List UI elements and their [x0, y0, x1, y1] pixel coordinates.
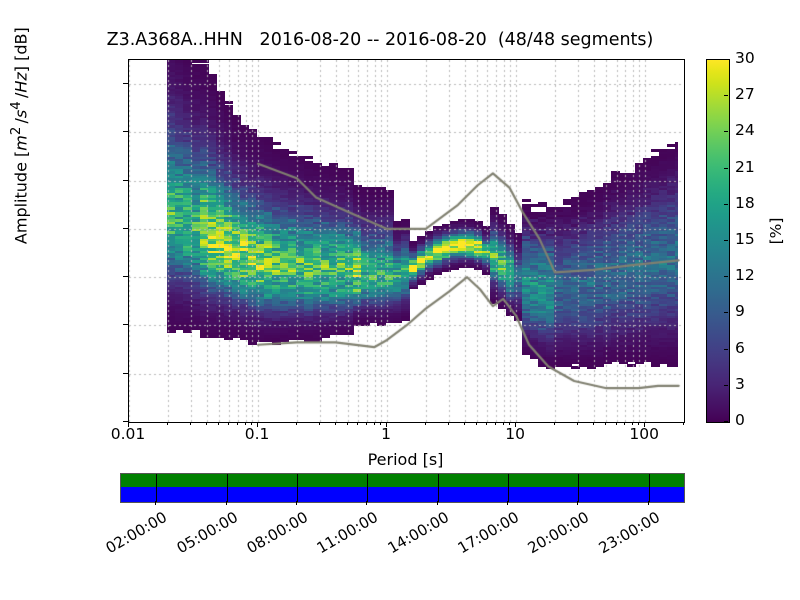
x-tick-minor: [319, 422, 320, 425]
y-axis-label: Amplitude [m2 /s4 /Hz] [dB]: [9, 0, 30, 306]
x-tick-minor: [448, 422, 449, 425]
ppsd-plot-area[interactable]: [128, 59, 685, 423]
x-tick-minor: [464, 422, 465, 425]
coverage-tick-mark: [156, 474, 157, 502]
x-tick-minor: [347, 422, 348, 425]
colorbar-tick-mark: [724, 385, 728, 386]
x-tick-minor: [509, 422, 510, 425]
colorbar-tick-label: 15: [735, 230, 775, 248]
coverage-tick-outer: [155, 501, 156, 505]
colorbar-tick-mark: [724, 349, 728, 350]
x-tick-label: 100: [604, 425, 684, 443]
colorbar-tick-label: 12: [735, 266, 775, 284]
x-tick-mark: [644, 422, 645, 427]
colorbar-tick-label: 24: [735, 121, 775, 139]
x-tick-minor: [335, 422, 336, 425]
x-tick-minor: [357, 422, 358, 425]
x-tick-mark: [128, 422, 129, 427]
x-tick-label: 0.1: [217, 425, 297, 443]
x-tick-mark: [515, 422, 516, 427]
colorbar[interactable]: [706, 59, 730, 423]
ppsd-figure: Z3.A368A..HHN 2016-08-20 -- 2016-08-20 (…: [0, 0, 800, 600]
x-tick-minor: [503, 422, 504, 425]
x-tick-label: 0.01: [88, 425, 168, 443]
x-tick-minor: [228, 422, 229, 425]
x-tick-minor: [476, 422, 477, 425]
x-tick-mark: [257, 422, 258, 427]
colorbar-tick-label: 30: [735, 49, 775, 67]
x-tick-minor: [251, 422, 252, 425]
colorbar-gradient: [707, 60, 729, 422]
colorbar-tick-mark: [724, 204, 728, 205]
colorbar-tick-mark: [724, 312, 728, 313]
x-tick-minor: [554, 422, 555, 425]
coverage-tick-mark: [649, 474, 650, 502]
colorbar-tick-label: 9: [735, 302, 775, 320]
coverage-time-label: 20:00:00: [525, 508, 592, 557]
page-title: Z3.A368A..HHN 2016-08-20 -- 2016-08-20 (…: [0, 30, 760, 50]
colorbar-tick-label: 6: [735, 339, 775, 357]
y-tick-mark: [123, 276, 128, 277]
x-tick-minor: [632, 422, 633, 425]
coverage-time-label: 05:00:00: [173, 508, 240, 557]
coverage-tick-outer: [296, 501, 297, 505]
colorbar-tick-mark: [724, 240, 728, 241]
coverage-time-label: 11:00:00: [314, 508, 381, 557]
y-tick-mark: [123, 324, 128, 325]
x-tick-minor: [486, 422, 487, 425]
coverage-tick-outer: [226, 501, 227, 505]
coverage-tick-mark: [578, 474, 579, 502]
x-tick-minor: [206, 422, 207, 425]
x-axis-label: Period [s]: [128, 450, 683, 469]
x-tick-minor: [577, 422, 578, 425]
x-tick-minor: [638, 422, 639, 425]
coverage-tick-mark: [508, 474, 509, 502]
coverage-tick-outer: [507, 501, 508, 505]
coverage-tick-outer: [648, 501, 649, 505]
x-tick-minor: [366, 422, 367, 425]
x-tick-mark: [386, 422, 387, 427]
colorbar-tick-mark: [724, 95, 728, 96]
coverage-time-label: 14:00:00: [384, 508, 451, 557]
time-coverage-axes[interactable]: [120, 473, 685, 503]
coverage-time-label: 08:00:00: [244, 508, 311, 557]
colorbar-tick-label: 0: [735, 411, 775, 429]
x-tick-minor: [296, 422, 297, 425]
colorbar-tick-label: 3: [735, 375, 775, 393]
coverage-tick-mark: [367, 474, 368, 502]
coverage-segment-bar: [121, 487, 684, 502]
x-tick-minor: [190, 422, 191, 425]
coverage-tick-mark: [227, 474, 228, 502]
coverage-tick-outer: [437, 501, 438, 505]
x-tick-minor: [237, 422, 238, 425]
colorbar-tick-mark: [724, 131, 728, 132]
x-tick-minor: [167, 422, 168, 425]
colorbar-tick-mark: [724, 276, 728, 277]
x-tick-minor: [683, 422, 684, 425]
colorbar-tick-mark: [724, 59, 728, 60]
colorbar-tick-mark: [724, 168, 728, 169]
x-tick-label: 10: [475, 425, 555, 443]
x-tick-minor: [425, 422, 426, 425]
x-tick-minor: [605, 422, 606, 425]
colorbar-tick-label: 27: [735, 85, 775, 103]
coverage-tick-outer: [577, 501, 578, 505]
coverage-time-label: 17:00:00: [455, 508, 522, 557]
x-tick-minor: [245, 422, 246, 425]
y-tick-mark: [123, 83, 128, 84]
y-tick-mark: [123, 373, 128, 374]
y-tick-mark: [123, 180, 128, 181]
y-tick-mark: [123, 131, 128, 132]
coverage-tick-mark: [297, 474, 298, 502]
x-tick-minor: [218, 422, 219, 425]
colorbar-tick-mark: [724, 421, 728, 422]
x-tick-minor: [380, 422, 381, 425]
coverage-time-label: 02:00:00: [103, 508, 170, 557]
x-tick-label: 1: [346, 425, 426, 443]
x-tick-minor: [624, 422, 625, 425]
coverage-data-bar: [121, 474, 684, 487]
colorbar-tick-label: 21: [735, 158, 775, 176]
coverage-tick-mark: [438, 474, 439, 502]
x-tick-minor: [495, 422, 496, 425]
x-tick-minor: [593, 422, 594, 425]
x-tick-minor: [374, 422, 375, 425]
coverage-time-label: 23:00:00: [595, 508, 662, 557]
y-axis-label-text: Amplitude [m2 /s4 /Hz] [dB]: [12, 27, 31, 244]
noise-model-curves: [129, 60, 684, 422]
x-tick-minor: [616, 422, 617, 425]
coverage-tick-outer: [366, 501, 367, 505]
y-tick-mark: [123, 228, 128, 229]
colorbar-tick-label: 18: [735, 194, 775, 212]
